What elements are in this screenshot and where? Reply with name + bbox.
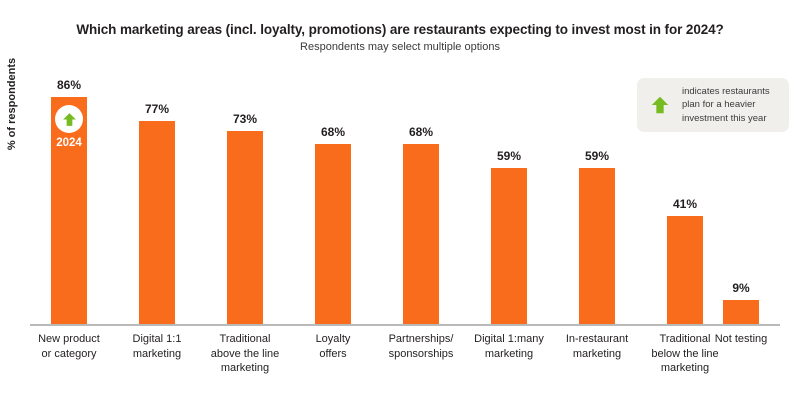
bar-value-label: 41% <box>673 197 697 211</box>
highlight-badge <box>55 105 83 133</box>
page-title: Which marketing areas (incl. loyalty, pr… <box>0 22 800 38</box>
bar[interactable] <box>667 216 703 324</box>
x-axis-label-loyalty-offers: Loyaltyoffers <box>290 332 376 361</box>
bar-slot: 68% <box>382 60 460 324</box>
bar-value-label: 59% <box>585 149 609 163</box>
bar-value-label: 59% <box>497 149 521 163</box>
x-axis-label-new-product: New productor category <box>26 332 112 361</box>
x-axis-label-partnerships: Partnerships/sponsorships <box>378 332 464 361</box>
x-axis-label-not-testing: Not testing <box>698 332 784 347</box>
bar-slot: 73% <box>206 60 284 324</box>
bar[interactable]: 2024 <box>51 97 87 324</box>
x-axis-label-in-restaurant: In-restaurantmarketing <box>554 332 640 361</box>
bar-slot: 68% <box>294 60 372 324</box>
bar[interactable] <box>227 131 263 324</box>
highlight-badge-year: 2024 <box>56 137 82 149</box>
x-axis-labels: New productor category Digital 1:1market… <box>30 332 780 392</box>
bar-value-label: 73% <box>233 112 257 126</box>
bar[interactable] <box>579 168 615 324</box>
bar[interactable] <box>491 168 527 324</box>
x-axis-label-digital-1-1: Digital 1:1marketing <box>114 332 200 361</box>
legend: indicates restaurantsplan for a heavieri… <box>637 78 789 132</box>
bar-slot: 86% 2024 <box>30 60 108 324</box>
bar-value-label: 68% <box>409 125 433 139</box>
x-axis-label-traditional-above: Traditionalabove the linemarketing <box>202 332 288 376</box>
x-axis-baseline <box>30 324 780 326</box>
title-block: Which marketing areas (incl. loyalty, pr… <box>0 22 800 54</box>
chart-subtitle: Respondents may select multiple options <box>0 41 800 54</box>
x-axis-label-digital-1-many: Digital 1:manymarketing <box>466 332 552 361</box>
bar-value-label: 77% <box>145 102 169 116</box>
bar-value-label: 68% <box>321 125 345 139</box>
bar-slot: 59% <box>470 60 548 324</box>
bar-value-label: 9% <box>732 281 749 295</box>
bar[interactable] <box>723 300 759 324</box>
y-axis-label: % of respondents <box>6 44 18 164</box>
legend-text: indicates restaurantsplan for a heavieri… <box>682 85 770 124</box>
bar-value-label: 86% <box>57 78 81 92</box>
up-arrow-icon <box>61 111 78 128</box>
bar[interactable] <box>139 121 175 324</box>
bar-slot: 59% <box>558 60 636 324</box>
bar-slot: 77% <box>118 60 196 324</box>
bar[interactable] <box>315 144 351 324</box>
bar[interactable] <box>403 144 439 324</box>
up-arrow-icon <box>645 90 675 120</box>
